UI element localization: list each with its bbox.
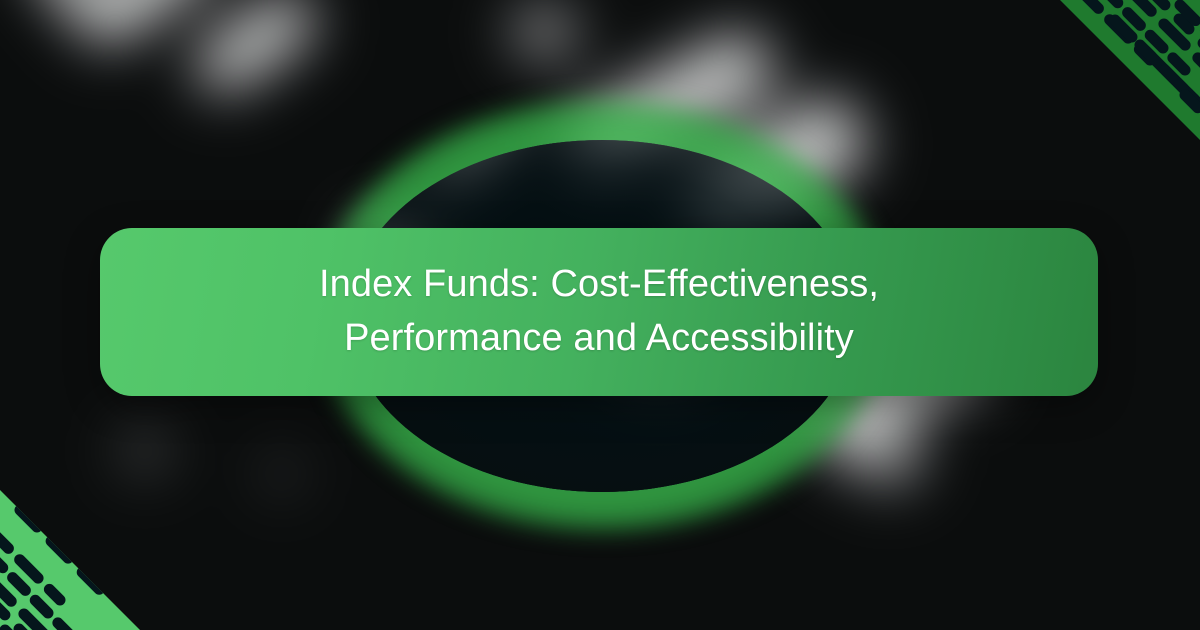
corner-decoration-bottom-left	[0, 490, 180, 630]
diagonal-dash-triangle-icon	[0, 490, 180, 630]
photo-blob	[515, 10, 575, 54]
corner-decoration-top-right	[1020, 0, 1200, 140]
cover-canvas: Index Funds: Cost-Effectiveness, Perform…	[0, 0, 1200, 630]
title-card: Index Funds: Cost-Effectiveness, Perform…	[100, 228, 1098, 396]
photo-blob	[860, 425, 918, 481]
photo-blob	[265, 460, 299, 488]
diagonal-dash-triangle-icon	[1020, 0, 1200, 140]
page-title: Index Funds: Cost-Effectiveness, Perform…	[319, 258, 879, 366]
photo-blob	[125, 435, 165, 467]
